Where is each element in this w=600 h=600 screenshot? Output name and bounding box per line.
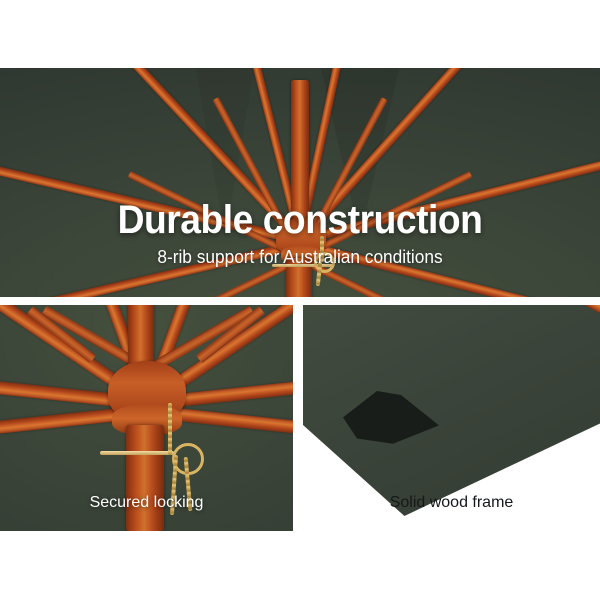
divider-vertical [293,297,303,537]
divider-top [0,0,600,68]
panel-headline: Durable construction [21,198,579,242]
locking-pin [100,451,174,455]
divider-bottom [0,531,600,600]
panel-caption: Secured locking [0,493,293,513]
panel-durable-construction: Durable construction 8-rib support for A… [0,68,600,297]
panel-secured-locking: Secured locking [0,305,293,531]
panel-subline: 8-rib support for Australian conditions [12,246,588,268]
umbrella-pole [126,425,164,531]
panel-caption: Solid wood frame [303,493,600,513]
product-feature-image: Durable construction 8-rib support for A… [0,0,600,600]
panel-solid-wood-frame: Solid wood frame [303,305,600,531]
canopy-fabric [303,305,600,516]
safety-chain [168,403,172,455]
